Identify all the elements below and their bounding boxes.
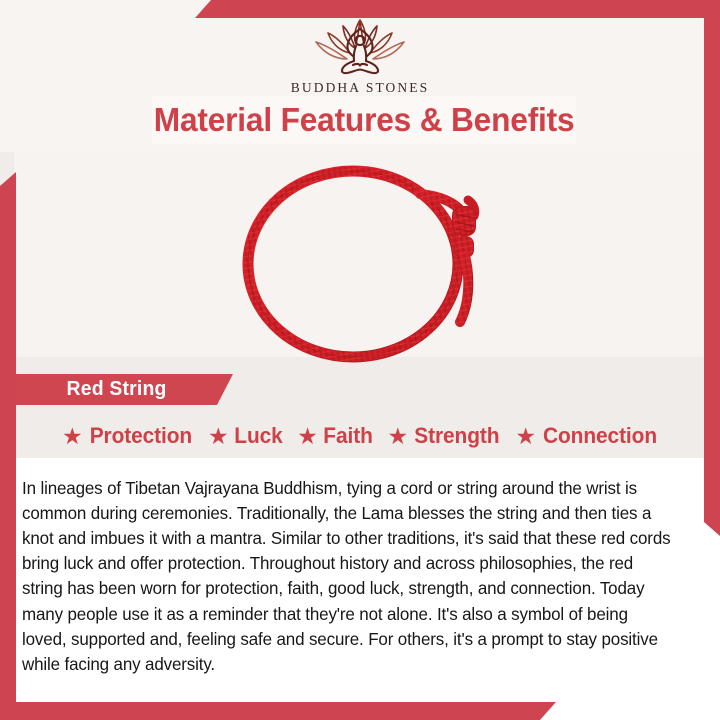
benefit-item-protection: ★ Protection xyxy=(62,423,194,449)
benefit-label: Faith xyxy=(323,423,372,449)
brand-logo: BUDDHA STONES xyxy=(0,16,720,96)
decorative-band-left xyxy=(0,172,16,704)
decorative-band-bottom xyxy=(0,702,556,720)
benefit-item-luck: ★ Luck xyxy=(208,423,284,449)
benefit-item-strength: ★ Strength xyxy=(387,423,501,449)
star-icon: ★ xyxy=(515,425,536,448)
infographic-poster: BUDDHA STONES Material Features & Benefi… xyxy=(0,0,720,720)
description-text: In lineages of Tibetan Vajrayana Buddhis… xyxy=(22,476,670,678)
product-name-banner: Red String xyxy=(15,374,233,405)
benefit-label: Luck xyxy=(234,423,282,449)
benefit-label: Connection xyxy=(543,423,657,449)
page-title: Material Features & Benefits xyxy=(154,101,575,139)
benefit-label: Protection xyxy=(89,423,191,449)
benefit-item-faith: ★ Faith xyxy=(297,423,374,449)
benefit-label: Strength xyxy=(414,423,499,449)
product-name-label: Red String xyxy=(67,378,167,401)
red-braided-string-bracelet-image xyxy=(222,152,512,368)
star-icon: ★ xyxy=(297,425,318,448)
star-icon: ★ xyxy=(208,425,229,448)
lotus-meditation-icon xyxy=(304,16,416,78)
benefit-item-connection: ★ Connection xyxy=(515,423,660,449)
brand-name: BUDDHA STONES xyxy=(291,80,429,96)
product-photo xyxy=(222,152,512,368)
star-icon: ★ xyxy=(62,425,83,448)
headline-plate: Material Features & Benefits xyxy=(152,96,576,144)
star-icon: ★ xyxy=(387,425,408,448)
benefits-list: ★ Protection ★ Luck ★ Faith ★ Strength ★… xyxy=(22,418,698,454)
